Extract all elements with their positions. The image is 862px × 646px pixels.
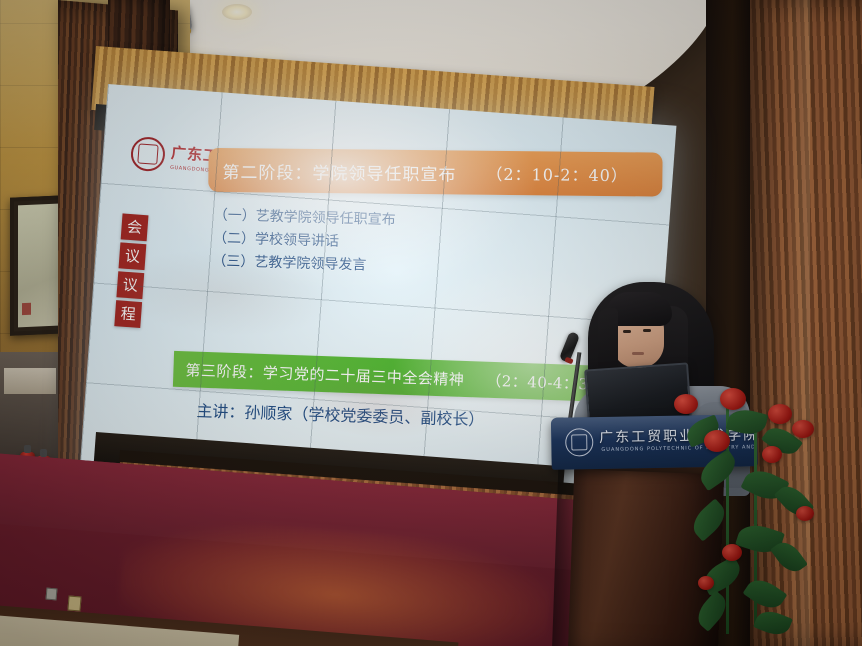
floor-outlet	[67, 596, 81, 612]
downlight-icon	[222, 4, 252, 20]
seal-char: 程	[114, 300, 142, 328]
agenda-list: （一）艺教学院领导任职宣布 （二）学校领导讲话 （三）艺教学院领导发言	[212, 204, 396, 278]
stage-two-label: 第二阶段：学院领导任职宣布	[222, 157, 456, 184]
eye	[623, 330, 631, 333]
stage-three-label: 第三阶段：学习党的二十届三中全会精神	[185, 359, 465, 390]
seal-char: 议	[119, 242, 147, 270]
agenda-seal: 会 议 议 程	[114, 213, 148, 328]
corridor-light	[4, 368, 56, 394]
flower-bloom	[704, 430, 730, 452]
flower-arrangement	[668, 386, 848, 646]
seal-char: 会	[121, 213, 149, 241]
flower-bloom	[796, 506, 814, 521]
flower-bloom	[720, 388, 746, 410]
seal-char: 议	[116, 271, 144, 299]
floor-outlet	[46, 588, 58, 601]
flower-bloom	[722, 544, 742, 561]
flower-bloom	[792, 420, 814, 438]
stage-two-time: （2：10-2：40）	[486, 161, 628, 186]
flower-bloom	[762, 446, 782, 463]
mouth	[632, 352, 644, 355]
agenda-item: （三）艺教学院领导发言	[212, 250, 395, 278]
flower-bloom	[674, 394, 698, 414]
seal-stamp-icon	[22, 303, 31, 315]
flower-bloom	[768, 404, 792, 424]
stage-two-banner: 第二阶段：学院领导任职宣布 （2：10-2：40）	[208, 148, 662, 197]
flower-bloom	[698, 576, 714, 590]
school-logo-icon	[130, 136, 166, 172]
photo-scene: 翰墨书香 文化育人 广东工贸职业技术学院 GUANGDONG POLYTECHN…	[0, 0, 862, 646]
eye	[643, 329, 651, 332]
speaker-line: 主讲：孙顺家（学校党委委员、副校长）	[196, 397, 485, 430]
